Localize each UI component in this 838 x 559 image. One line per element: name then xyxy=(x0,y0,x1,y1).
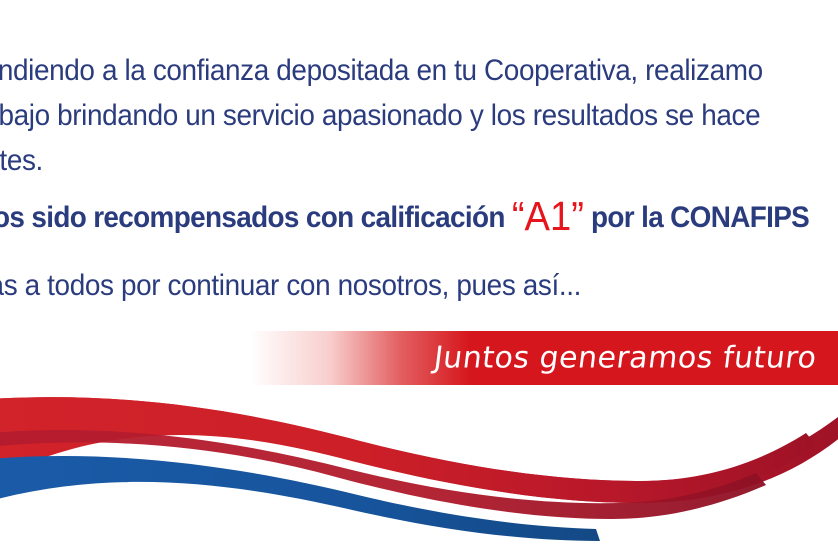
rating-suffix-text: por la CONAFIPS xyxy=(584,201,809,234)
paragraph-1-line-2: trabajo brindando un servicio apasionado… xyxy=(0,93,763,138)
rating-prefix-text: emos sido recompensados con calificación xyxy=(0,201,512,234)
paragraph-gratitude: spondiendo a la confianza depositada en … xyxy=(0,48,763,183)
rating-value: A1 xyxy=(525,193,572,239)
slogan-text: Juntos generamos futuro xyxy=(431,341,818,376)
paragraph-thanks: acias a todos por continuar con nosotros… xyxy=(0,263,581,308)
rating-open-quote: “ xyxy=(512,193,525,239)
rating-close-quote: ” xyxy=(571,193,584,239)
wave-svg xyxy=(0,385,838,559)
paragraph-rating: emos sido recompensados con calificación… xyxy=(0,194,809,240)
rating-badge: “A1” xyxy=(512,193,584,239)
wave-decoration xyxy=(0,385,838,559)
slide-canvas: spondiendo a la confianza depositada en … xyxy=(0,0,838,559)
paragraph-1-line-3: dentes. xyxy=(0,138,763,183)
slogan-banner-inner: Juntos generamos futuro xyxy=(0,331,838,385)
paragraph-1-line-1: spondiendo a la confianza depositada en … xyxy=(0,48,763,93)
paragraph-3-line-1: acias a todos por continuar con nosotros… xyxy=(0,263,581,308)
slogan-banner: Juntos generamos futuro xyxy=(0,331,838,385)
